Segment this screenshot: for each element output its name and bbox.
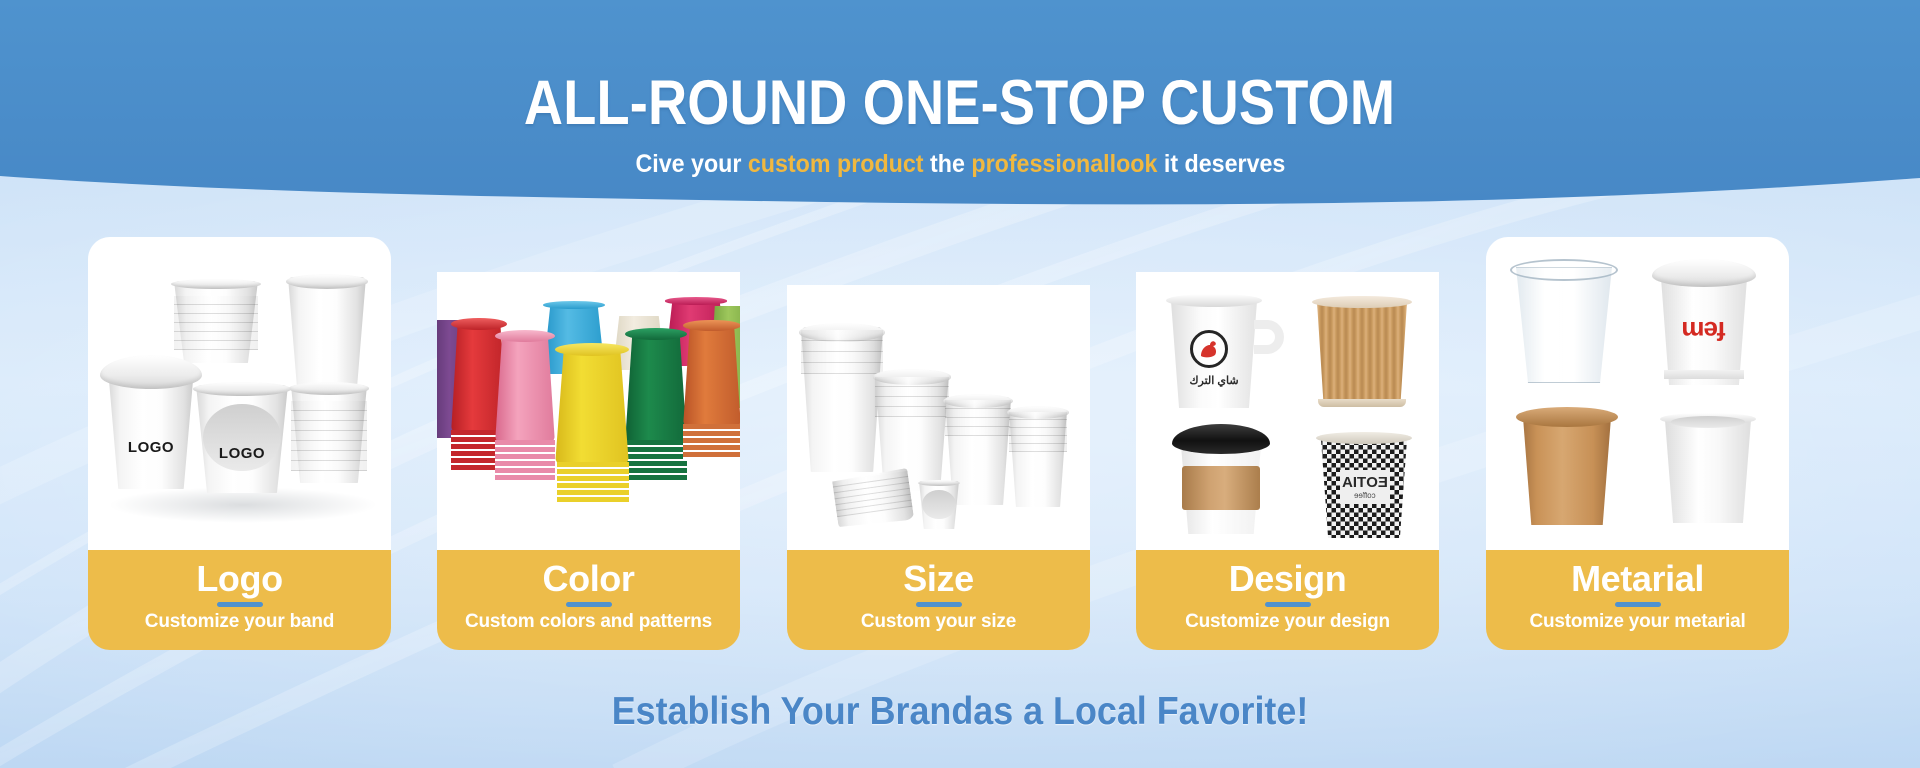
- checkered-eotia-cup: EOTIA coffee: [1318, 436, 1410, 538]
- arabic-brand-text: شاي الترك: [1168, 374, 1260, 387]
- feature-card-size[interactable]: Size Custom your size: [787, 285, 1090, 650]
- photo-scene-design-cups: شاي الترك: [1136, 272, 1439, 550]
- white-cup-lid: [1652, 259, 1756, 287]
- swan-logo-badge: [1190, 330, 1228, 368]
- card-label-design: Design Customize your design: [1136, 550, 1439, 650]
- cup-stack-yellow: [557, 462, 629, 504]
- cup-stack-tipped: [832, 468, 914, 530]
- card-label-color: Color Custom colors and patterns: [437, 550, 740, 650]
- card-label-metarial: Metarial Customize your metarial: [1486, 550, 1789, 650]
- card-title: Metarial: [1571, 560, 1704, 599]
- white-lidded-printed-cup: fem: [1658, 275, 1750, 385]
- colored-cup-yellow: [555, 348, 629, 466]
- eotia-brand-sub: coffee: [1354, 491, 1376, 500]
- card-title: Color: [543, 560, 635, 599]
- cup-logo-print: LOGO: [108, 439, 194, 456]
- cup-stack-short: [291, 385, 367, 483]
- card-divider: [1265, 602, 1311, 607]
- feature-card-color[interactable]: Color Custom colors and patterns: [437, 272, 740, 650]
- card-title: Logo: [196, 560, 282, 599]
- card-subtitle: Customize your metarial: [1529, 612, 1745, 633]
- cup-stack-pink: [495, 440, 555, 482]
- photo-scene-material-cups: fem: [1486, 237, 1789, 550]
- cup-stack-green: [625, 440, 687, 482]
- cup-size-xl: [801, 327, 883, 472]
- black-lid-sleeve-cup: [1178, 440, 1264, 534]
- colored-cup-pink: [495, 334, 555, 444]
- kraft-sleeve: [1182, 466, 1260, 510]
- plain-white-cup: [1662, 417, 1754, 523]
- swan-icon: [1197, 339, 1221, 359]
- subtitle-highlight-1: custom product: [747, 150, 923, 178]
- eotia-brand-box: EOTIA coffee: [1340, 470, 1390, 504]
- kraft-ripple-cup: [1314, 300, 1410, 405]
- card-label-logo: Logo Customize your band: [88, 550, 391, 650]
- subtitle-part-3: it deserves: [1157, 150, 1285, 178]
- clear-plastic-cup: [1514, 267, 1614, 383]
- cup-size-mini: [919, 481, 959, 529]
- logo-cup-front: LOGO: [196, 385, 288, 493]
- colored-cup-green: [625, 332, 687, 444]
- card-photo-logo: LOGO LOGO: [88, 237, 391, 550]
- photo-scene-logo-cups: LOGO LOGO: [88, 237, 391, 550]
- card-subtitle: Customize your design: [1185, 612, 1390, 633]
- cup-lid: [100, 355, 202, 389]
- cup-stack-tall: [288, 277, 366, 392]
- page-subtitle: Cive your custom product the professiona…: [635, 152, 1285, 177]
- page-title: ALL-ROUND ONE-STOP CUSTOM: [524, 72, 1395, 135]
- card-divider: [217, 602, 263, 607]
- swan-logo-handled-cup: شاي الترك: [1168, 298, 1260, 408]
- subtitle-part-2: the: [923, 150, 971, 178]
- cup-handle: [1254, 320, 1284, 354]
- subtitle-part-1: Cive your: [635, 150, 747, 178]
- clear-cup-rim: [1510, 259, 1618, 281]
- colored-cup-orange: [683, 324, 740, 428]
- card-subtitle: Custom your size: [861, 612, 1016, 633]
- black-cup-lid: [1172, 424, 1270, 454]
- card-label-size: Size Custom your size: [787, 550, 1090, 650]
- printed-brand-text: fem: [1658, 315, 1750, 346]
- card-divider: [916, 602, 962, 607]
- card-title: Design: [1229, 560, 1347, 599]
- cup-size-s: [1009, 409, 1067, 507]
- card-photo-color: [437, 272, 740, 550]
- header-text-block: ALL-ROUND ONE-STOP CUSTOM Cive your cust…: [0, 0, 1920, 215]
- card-title: Size: [903, 560, 973, 599]
- card-photo-size: [787, 285, 1090, 550]
- card-photo-metarial: fem: [1486, 237, 1789, 550]
- card-divider: [1615, 602, 1661, 607]
- card-subtitle: Customize your band: [145, 612, 334, 633]
- card-photo-design: شاي الترك: [1136, 272, 1439, 550]
- promo-banner: ALL-ROUND ONE-STOP CUSTOM Cive your cust…: [0, 0, 1920, 768]
- footer-tagline: Establish Your Brandas a Local Favorite!: [77, 692, 1843, 731]
- subtitle-highlight-2: professionallook: [971, 150, 1157, 178]
- photo-scene-size-cups: [787, 285, 1090, 550]
- feature-card-logo[interactable]: LOGO LOGO Logo Customize your band: [88, 237, 391, 650]
- card-divider: [566, 602, 612, 607]
- cup-stack-middle: [174, 281, 258, 363]
- photo-scene-colored-cups: [437, 272, 740, 550]
- card-subtitle: Custom colors and patterns: [465, 612, 712, 633]
- feature-card-design[interactable]: شاي الترك: [1136, 272, 1439, 650]
- cup-logo-print: LOGO: [196, 445, 288, 462]
- cup-stack-orange: [683, 424, 740, 459]
- kraft-paper-cup: [1520, 415, 1614, 525]
- eotia-brand-name: EOTIA: [1342, 474, 1388, 491]
- kraft-cup-rim: [1516, 407, 1618, 427]
- feature-card-metarial[interactable]: fem Metarial: [1486, 237, 1789, 650]
